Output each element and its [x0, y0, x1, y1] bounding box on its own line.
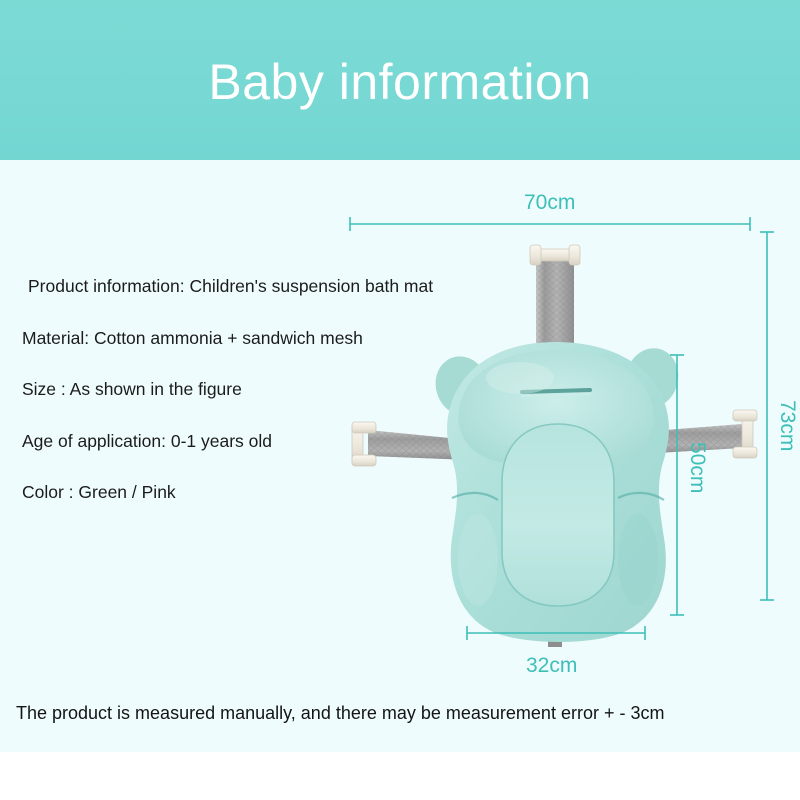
spec-line-size: Size : As shown in the figure	[22, 381, 522, 399]
dimension-label-width-top: 70cm	[524, 192, 575, 213]
dimension-label-height-inner: 50cm	[687, 442, 708, 493]
cushion-shadow-right	[618, 514, 658, 606]
product-spec-list: Product information: Children's suspensi…	[22, 278, 522, 536]
page-header-band: Baby information	[0, 0, 800, 160]
right-strap-buckle-top-tab	[733, 410, 757, 421]
spec-line-material: Material: Cotton ammonia + sandwich mesh	[22, 330, 522, 348]
page-body: 70cm 73cm 50cm 32cm Product information:…	[0, 160, 800, 752]
dimension-label-width-bottom: 32cm	[526, 655, 577, 676]
spec-line-product-information: Product information: Children's suspensi…	[22, 278, 522, 296]
right-strap-buckle-bottom-tab	[733, 447, 757, 458]
top-strap-buckle-left-tab	[530, 245, 541, 265]
spec-line-color: Color : Green / Pink	[22, 484, 522, 502]
top-strap-buckle-right-tab	[569, 245, 580, 265]
dimension-label-height-right: 73cm	[777, 400, 798, 451]
page-footer-strip	[0, 752, 800, 800]
spec-line-age: Age of application: 0-1 years old	[22, 433, 522, 451]
measurement-disclaimer: The product is measured manually, and th…	[16, 704, 664, 722]
page-title: Baby information	[208, 57, 591, 107]
product-info-page: Baby information	[0, 0, 800, 800]
